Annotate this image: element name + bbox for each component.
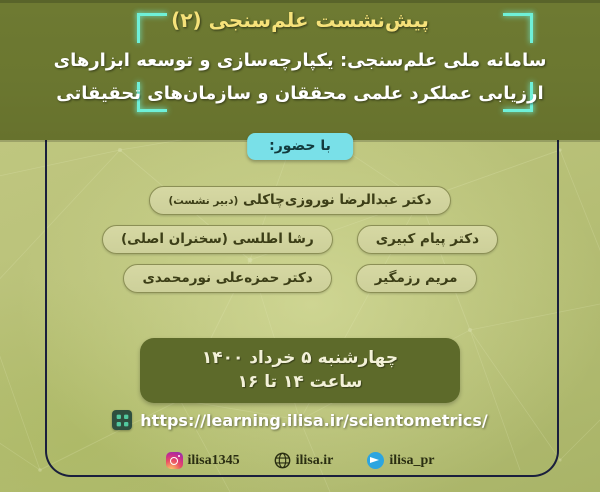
website-handle: ilisa.ir [296, 453, 334, 469]
telegram-handle: ilisa_pr [389, 453, 434, 469]
social-item-instagram[interactable]: ilisa1345 [166, 452, 240, 469]
speakers-list: دکتر عبدالرضا نوروزی‌چاکلی (دبیر نشست) د… [60, 186, 540, 303]
speaker-row: دکتر پیام کبیری رشا اطلسی (سخنران اصلی) [60, 225, 540, 254]
speaker-pill: دکتر حمزه‌علی نورمحمدی [123, 264, 331, 293]
speaker-name: دکتر عبدالرضا نوروزی‌چاکلی [243, 192, 432, 208]
speaker-name: رشا اطلسی (سخنران اصلی) [121, 231, 314, 247]
poster: پیش‌نشست علم‌سنجی (۲) سامانه ملی علم‌سنج… [0, 0, 600, 492]
speaker-pill: مریم رزمگیر [356, 264, 477, 293]
schedule-time: ساعت ۱۴ تا ۱۶ [140, 370, 460, 394]
speaker-row: دکتر عبدالرضا نوروزی‌چاکلی (دبیر نشست) [60, 186, 540, 215]
speaker-pill: دکتر عبدالرضا نوروزی‌چاکلی (دبیر نشست) [149, 186, 450, 215]
header-top-rule [0, 0, 600, 3]
globe-icon [274, 452, 291, 469]
instagram-handle: ilisa1345 [188, 453, 240, 469]
speaker-role: (دبیر نشست) [168, 195, 238, 207]
schedule-date: چهارشنبه ۵ خرداد ۱۴۰۰ [140, 346, 460, 370]
social-links: ilisa1345 ilisa.ir ilisa_pr [0, 452, 600, 469]
telegram-icon [367, 452, 384, 469]
page-title: پیش‌نشست علم‌سنجی (۲) [0, 8, 600, 32]
social-item-website[interactable]: ilisa.ir [274, 452, 334, 469]
speaker-name: دکتر حمزه‌علی نورمحمدی [142, 270, 312, 286]
poster-header: پیش‌نشست علم‌سنجی (۲) سامانه ملی علم‌سنج… [0, 0, 600, 140]
event-url[interactable]: https://learning.ilisa.ir/scientometrics… [140, 411, 487, 430]
speaker-pill: رشا اطلسی (سخنران اصلی) [102, 225, 333, 254]
subtitle-line-2: ارزیابی عملکرد علمی محققان و سازمان‌های … [24, 78, 576, 109]
instagram-icon [166, 452, 183, 469]
subtitle-line-1: سامانه ملی علم‌سنجی: یکپارچه‌سازی و توسع… [24, 45, 576, 76]
event-link-row[interactable]: https://learning.ilisa.ir/scientometrics… [0, 410, 600, 430]
speaker-name: دکتر پیام کبیری [376, 231, 479, 247]
attendance-badge: با حضور: [247, 133, 353, 160]
speaker-name: مریم رزمگیر [375, 270, 458, 286]
speaker-row: مریم رزمگیر دکتر حمزه‌علی نورمحمدی [60, 264, 540, 293]
social-item-telegram[interactable]: ilisa_pr [367, 452, 434, 469]
speaker-pill: دکتر پیام کبیری [357, 225, 498, 254]
app-grid-icon [112, 410, 132, 430]
schedule-box: چهارشنبه ۵ خرداد ۱۴۰۰ ساعت ۱۴ تا ۱۶ [140, 338, 460, 403]
